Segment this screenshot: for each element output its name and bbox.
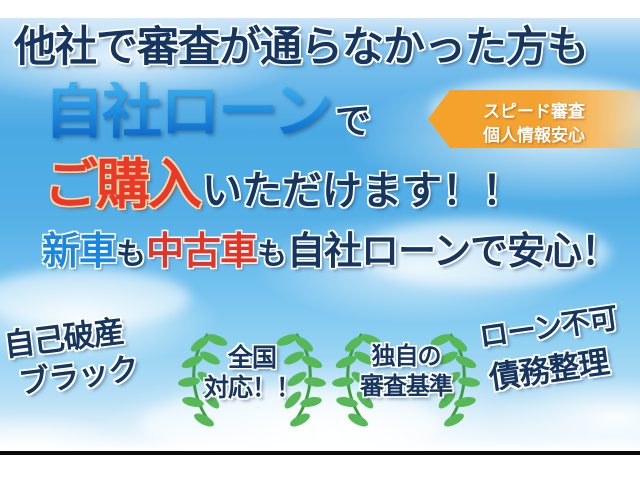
ribbon-line-1: スピード審査 (428, 97, 640, 122)
wreath1-line-2: 対応！！ (178, 374, 326, 401)
wreath2-line-2: 審査基準 (332, 374, 480, 400)
headline-anshin: 自社ローンで安心！ (287, 232, 618, 270)
headline-shinsha: 新車 (42, 232, 116, 270)
ribbon-line-2: 個人情報安心 (428, 121, 640, 146)
headline-gokounyuu: ご購入 (44, 158, 200, 212)
headline-line-3: ご購入 いただけます！！ (44, 158, 522, 212)
wreath2-line-1: 独自の (332, 344, 480, 370)
bottom-white-border (0, 455, 640, 480)
headline-line-2: 自社ローン で (44, 82, 371, 142)
headline-mo-2: も (257, 240, 287, 270)
headline-line-4: 新車 も 中古車 も 自社ローンで安心！ (42, 232, 618, 270)
headline-line-2-tail: で (335, 104, 371, 140)
top-white-border (0, 0, 640, 18)
badge-bankruptcy-blacklist: 自己破産 ブラック (2, 314, 140, 400)
banner-image: 他社で審査が通らなかった方も 自社ローン で スピード審査 個人情報安心 ご購入… (0, 0, 640, 480)
headline-chuukosha: 中古車 (146, 232, 257, 270)
wreath1-line-1: 全国 (178, 344, 326, 371)
headline-mo-1: も (116, 240, 146, 270)
speed-screening-ribbon-badge: スピード審査 個人情報安心 (428, 90, 640, 148)
headline-line-3-tail: いただけます！！ (202, 171, 522, 211)
wreath-badge-own-criteria: 独自の 審査基準 (332, 326, 480, 430)
wreath-badge-nationwide: 全国 対応！！ (178, 326, 326, 430)
headline-line-1: 他社で審査が通らなかった方も (14, 26, 588, 68)
headline-jisha-loan: 自社ローン (44, 82, 331, 142)
